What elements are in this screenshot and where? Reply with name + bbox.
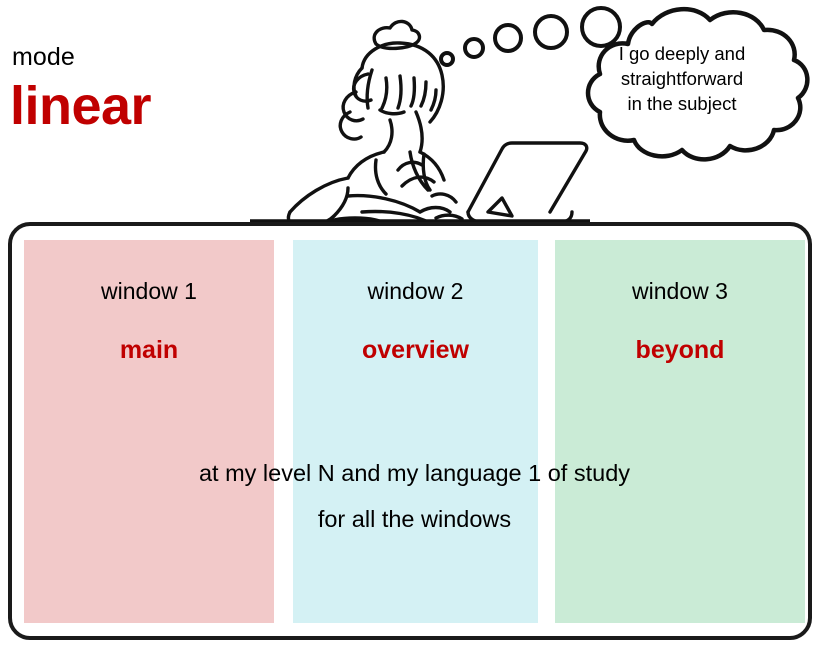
mode-value: linear: [10, 79, 151, 133]
window-column-1[interactable]: window 1 main: [24, 240, 274, 623]
diagram-canvas: mode linear: [0, 0, 827, 647]
window-column-3-title: window 3: [555, 280, 805, 303]
window-column-1-title: window 1: [24, 280, 274, 303]
window-column-2-title: window 2: [293, 280, 538, 303]
window-column-2[interactable]: window 2 overview: [293, 240, 538, 623]
thought-bubble-line-3: in the subject: [627, 93, 736, 114]
thought-bubble-line-2: straightforward: [621, 68, 743, 89]
windows-columns: window 1 main window 2 overview window 3…: [24, 240, 805, 623]
window-column-1-value: main: [24, 338, 274, 363]
window-column-3-value: beyond: [555, 338, 805, 363]
window-column-2-value: overview: [293, 338, 538, 363]
mode-label: mode: [12, 45, 75, 70]
window-column-3[interactable]: window 3 beyond: [555, 240, 805, 623]
thought-bubble-text: I go deeply and straightforward in the s…: [596, 41, 768, 116]
thought-bubble-line-1: I go deeply and: [619, 43, 746, 64]
